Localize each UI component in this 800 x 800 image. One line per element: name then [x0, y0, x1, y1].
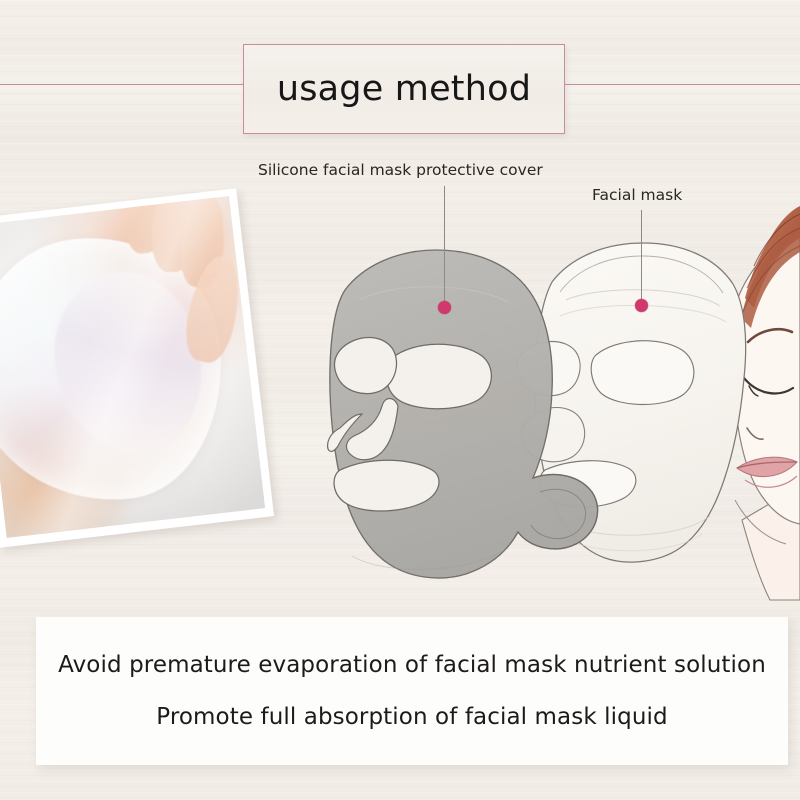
benefit-line-2: Promote full absorption of facial mask l… — [156, 704, 667, 730]
callout-label-silicone-cover: Silicone facial mask protective cover — [258, 161, 543, 179]
woman-face-illustration — [733, 206, 800, 600]
callout-label-facial-mask: Facial mask — [592, 186, 682, 204]
callout-leader-line-facial-mask — [641, 210, 642, 303]
benefit-line-1: Avoid premature evaporation of facial ma… — [58, 652, 766, 678]
product-infographic: usage method — [0, 0, 800, 800]
callout-dot-facial-mask — [635, 299, 648, 312]
benefits-panel: Avoid premature evaporation of facial ma… — [36, 617, 788, 765]
callout-dot-silicone-cover — [438, 301, 451, 314]
callout-leader-line-silicone-cover — [444, 186, 445, 305]
